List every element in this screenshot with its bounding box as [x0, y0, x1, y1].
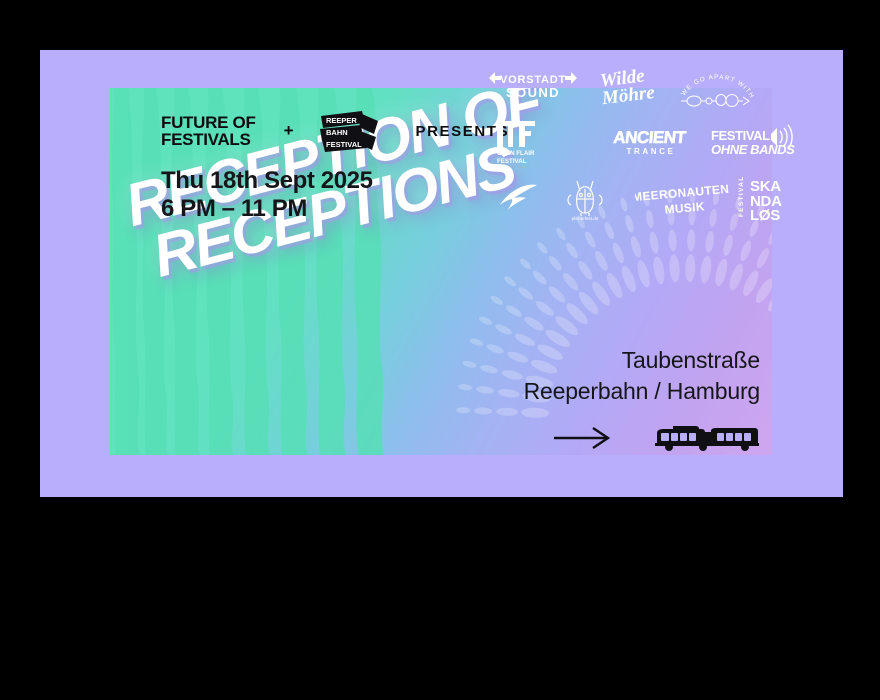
logo-swallow-bird: [485, 181, 557, 215]
svg-text:LØS: LØS: [750, 207, 780, 221]
arrow-right-icon: [553, 427, 611, 449]
logo-festival-skandaloes: FESTIVAL SKA NDA LØS: [735, 175, 797, 221]
logo-festival-ohne-bands: FESTIVAL OHNE BANDS FESTIVAL OHNE BANDS: [709, 124, 805, 160]
svg-text:FESTIVAL: FESTIVAL: [711, 128, 770, 143]
venue-street: Taubenstraße: [524, 345, 760, 376]
svg-text:ANCIENT: ANCIENT: [612, 128, 687, 147]
reeperbahn-festival-logo: REEPER BAHN FESTIVAL: [318, 110, 380, 152]
svg-text:OPEN FLAIR: OPEN FLAIR: [497, 150, 535, 157]
skandaloes-vertical-label: FESTIVAL: [738, 175, 745, 217]
svg-text:TRANCE: TRANCE: [627, 147, 676, 156]
venue-block: Taubenstraße Reeperbahn / Hamburg: [524, 345, 760, 407]
logo-vorstadt-sound: VORSTADT SOUND VORSTADT SOUND: [485, 66, 589, 106]
svg-text:BAHN: BAHN: [326, 128, 348, 137]
logo-row-3: pferdefest.de MEERONAUTEN MUSIK MEERONAU…: [485, 170, 775, 226]
svg-text:REEPER: REEPER: [326, 116, 357, 125]
pferdefest-url: pferdefest.de: [572, 216, 599, 221]
articulated-bus-icon: [655, 423, 760, 453]
logo-open-flair-festival: OPEN FLAIR FESTIVAL OFF OPEN FLAIR FESTI…: [485, 119, 599, 165]
event-date-block: Thu 18th Sept 2025 6 PM – 11 PM: [161, 167, 373, 223]
future-of-festivals-logo: FUTURE OF FESTIVALS: [161, 114, 256, 148]
screenshot-root: RECEPTION OF RECEPTIONS FUTURE OF FESTIV…: [0, 0, 880, 700]
poster-card: RECEPTION OF RECEPTIONS FUTURE OF FESTIV…: [40, 50, 843, 497]
logo-wilde-moehre: Wilde Möhre Wilde Möhre: [589, 64, 673, 108]
logo-row-2: OPEN FLAIR FESTIVAL OFF OPEN FLAIR FESTI…: [485, 114, 775, 170]
plus-icon: +: [284, 121, 294, 141]
logo-row-1: VORSTADT SOUND VORSTADT SOUND Wilde Möhr…: [485, 58, 775, 114]
header-row: FUTURE OF FESTIVALS + REEPER B: [161, 110, 516, 152]
logo-meeronauten-musik: MEERONAUTEN MUSIK MEERONAUTEN MUSIK: [635, 179, 735, 217]
svg-text:OHNE BANDS: OHNE BANDS: [711, 142, 795, 157]
svg-text:FESTIVAL: FESTIVAL: [326, 140, 362, 149]
transport-row: [553, 423, 760, 453]
event-date: Thu 18th Sept 2025: [161, 167, 373, 195]
logo-pferdefest: pferdefest.de: [557, 175, 635, 221]
logo-ancient-trance: ANCIENT TRANCE ANCIENT TRANCE: [599, 123, 709, 161]
logo-we-go-apart-with-art: WE GO APART WITH ART: [673, 63, 765, 109]
svg-text:MUSIK: MUSIK: [664, 199, 705, 216]
svg-text:FESTIVAL: FESTIVAL: [497, 158, 527, 165]
svg-text:WE GO APART WITH ART: WE GO APART WITH ART: [673, 63, 756, 100]
venue-district: Reeperbahn / Hamburg: [524, 376, 760, 407]
we-go-apart-arc-text: WE GO APART WITH ART: [673, 63, 756, 100]
event-time: 6 PM – 11 PM: [161, 195, 373, 223]
partner-logo-wall: VORSTADT SOUND VORSTADT SOUND Wilde Möhr…: [485, 58, 775, 226]
svg-text:SOUND: SOUND: [506, 85, 560, 100]
